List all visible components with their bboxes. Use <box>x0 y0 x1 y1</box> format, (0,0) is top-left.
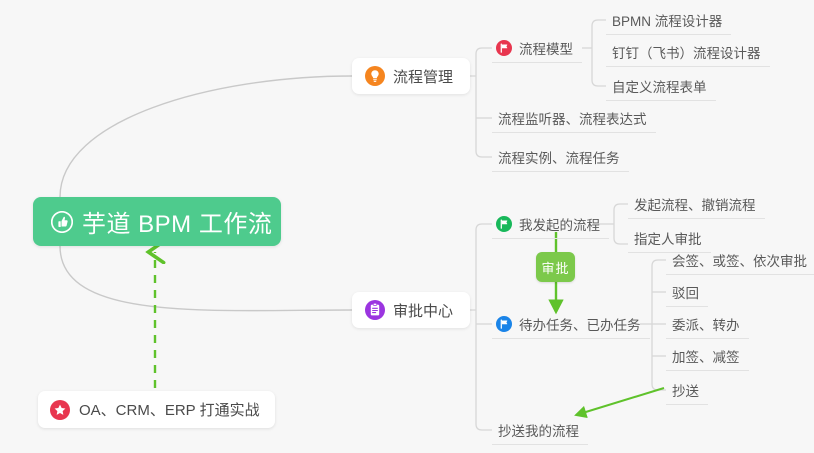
link-root-to-approval-center <box>60 246 352 311</box>
root-node[interactable]: 芋道 BPM 工作流 <box>33 197 281 246</box>
leaf-label: 钉钉（飞书）流程设计器 <box>612 42 761 62</box>
thumbs-up-icon <box>51 211 73 233</box>
leaf-label: 自定义流程表单 <box>612 76 707 96</box>
leaf-node-my-initiated-flows[interactable]: 我发起的流程 <box>492 210 609 239</box>
bracket-approval-top <box>476 224 492 230</box>
root-label: 芋道 BPM 工作流 <box>82 204 272 239</box>
leaf-label: 驳回 <box>672 282 699 302</box>
leaf-label: 我发起的流程 <box>519 214 600 234</box>
leaf-node-delegate-transfer[interactable]: 委派、转办 <box>666 310 749 339</box>
leaf-node-reject[interactable]: 驳回 <box>666 278 708 307</box>
leaf-node-todo-done-tasks[interactable]: 待办任务、已办任务 <box>492 310 650 339</box>
leaf-label: 发起流程、撤销流程 <box>634 194 756 214</box>
leaf-label: BPMN 流程设计器 <box>612 10 722 30</box>
bracket-tasks-top <box>652 260 666 266</box>
bracket-process-model-bottom <box>592 80 606 86</box>
leaf-node-process-model[interactable]: 流程模型 <box>492 34 582 63</box>
bracket-my-flows-top <box>614 204 628 210</box>
bracket-process-mgmt-bottom <box>476 151 492 157</box>
leaf-node-countersign[interactable]: 会签、或签、依次审批 <box>666 246 814 275</box>
bracket-approval-bottom <box>476 424 492 430</box>
leaf-node-dingtalk-feishu-designer[interactable]: 钉钉（飞书）流程设计器 <box>606 38 770 67</box>
leaf-node-start-cancel-flow[interactable]: 发起流程、撤销流程 <box>628 190 765 219</box>
branch-node-process-management[interactable]: 流程管理 <box>352 58 470 94</box>
annotation-tag-label: 审批 <box>541 258 569 277</box>
callout-card-label: OA、CRM、ERP 打通实战 <box>79 399 260 420</box>
branch-node-approval-center[interactable]: 审批中心 <box>352 292 470 328</box>
leaf-node-cc-to-me-flows[interactable]: 抄送我的流程 <box>492 416 588 445</box>
clipboard-icon <box>365 300 385 320</box>
annotation-arrow-cc-flow <box>576 388 664 415</box>
star-icon <box>50 400 70 420</box>
leaf-node-process-instance-task[interactable]: 流程实例、流程任务 <box>492 143 629 172</box>
leaf-label: 加签、减签 <box>672 346 740 366</box>
flag-icon <box>496 40 512 56</box>
leaf-label: 指定人审批 <box>634 228 702 248</box>
flag-icon <box>496 316 512 332</box>
leaf-label: 抄送我的流程 <box>498 420 579 440</box>
bracket-process-model-top <box>592 20 606 26</box>
branch-label: 审批中心 <box>393 300 453 321</box>
bracket-my-flows-bottom <box>614 238 628 244</box>
leaf-label: 会签、或签、依次审批 <box>672 250 807 270</box>
link-root-to-process-mgmt <box>60 76 352 197</box>
callout-card-integration[interactable]: OA、CRM、ERP 打通实战 <box>38 391 275 428</box>
lightbulb-icon <box>365 66 385 86</box>
leaf-label: 流程模型 <box>519 38 573 58</box>
mindmap-canvas: 芋道 BPM 工作流 流程管理 流程模型 BPMN 流程设计器 钉钉（飞书 <box>0 0 814 453</box>
leaf-label: 委派、转办 <box>672 314 740 334</box>
leaf-node-add-remove-sign[interactable]: 加签、减签 <box>666 342 749 371</box>
leaf-node-process-listener-expression[interactable]: 流程监听器、流程表达式 <box>492 104 656 133</box>
leaf-label: 待办任务、已办任务 <box>519 314 641 334</box>
leaf-label: 流程监听器、流程表达式 <box>498 108 647 128</box>
bracket-process-mgmt-top <box>476 48 492 54</box>
leaf-node-custom-form[interactable]: 自定义流程表单 <box>606 72 716 101</box>
flag-icon <box>496 216 512 232</box>
branch-label: 流程管理 <box>393 66 453 87</box>
leaf-label: 抄送 <box>672 380 699 400</box>
leaf-node-cc[interactable]: 抄送 <box>666 376 708 405</box>
annotation-tag-approval: 审批 <box>536 252 575 282</box>
leaf-node-bpmn-designer[interactable]: BPMN 流程设计器 <box>606 6 731 35</box>
leaf-label: 流程实例、流程任务 <box>498 147 620 167</box>
